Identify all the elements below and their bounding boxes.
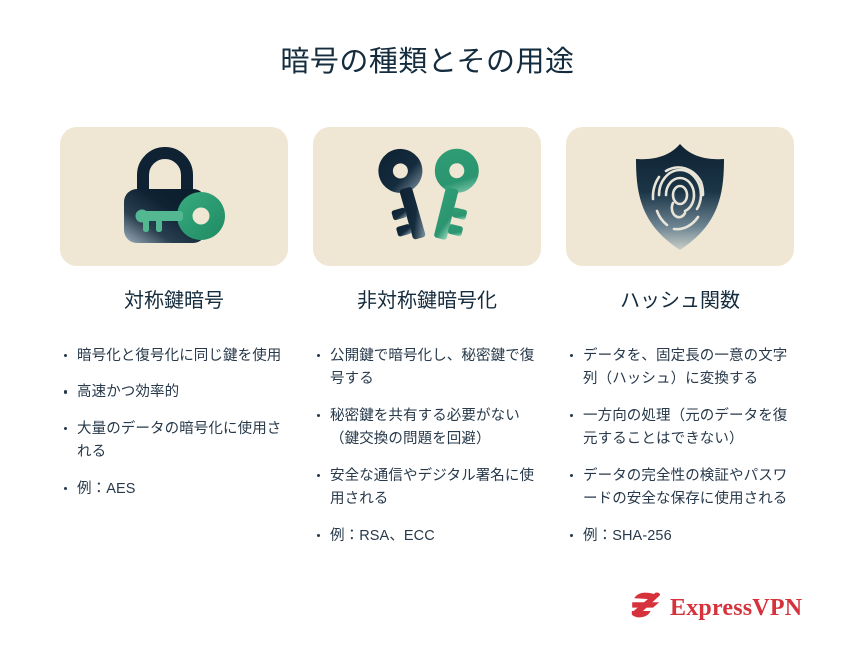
bullet-dot-icon bbox=[64, 354, 67, 357]
list-item-text: 例：SHA-256 bbox=[583, 528, 672, 544]
expressvpn-wordmark: ExpressVPN bbox=[670, 596, 802, 620]
list-item-text: データを、固定長の一意の文字列（ハッシュ）に変換する bbox=[583, 348, 787, 387]
bullet-dot-icon bbox=[64, 427, 67, 430]
bullet-dot-icon bbox=[570, 414, 573, 417]
two-keys-icon bbox=[367, 144, 487, 250]
list-item-text: 大量のデータの暗号化に使用される bbox=[77, 421, 281, 460]
list-item: 例：RSA、ECC bbox=[315, 525, 547, 548]
bullet-list-asymmetric: 公開鍵で暗号化し、秘密鍵で復号する 秘密鍵を共有する必要がない（鍵交換の問題を回… bbox=[315, 345, 547, 548]
bullet-dot-icon bbox=[317, 414, 320, 417]
bullet-dot-icon bbox=[570, 534, 573, 537]
list-item: データの完全性の検証やパスワードの安全な保存に使用される bbox=[568, 465, 800, 512]
list-item-text: 例：AES bbox=[77, 481, 136, 497]
bullet-dot-icon bbox=[317, 534, 320, 537]
shield-fingerprint-icon bbox=[630, 141, 730, 253]
heading-hash: ハッシュ関数 bbox=[566, 288, 794, 314]
list-item-text: 高速かつ効率的 bbox=[77, 384, 179, 400]
icon-card-hash bbox=[566, 127, 794, 266]
bullet-dot-icon bbox=[570, 354, 573, 357]
bullet-column-symmetric: 暗号化と復号化に同じ鍵を使用 高速かつ効率的 大量のデータの暗号化に使用される … bbox=[60, 345, 294, 548]
list-item: 例：AES bbox=[62, 478, 294, 501]
bullet-dot-icon bbox=[64, 390, 67, 393]
list-item: 公開鍵で暗号化し、秘密鍵で復号する bbox=[315, 345, 547, 392]
icon-card-symmetric bbox=[60, 127, 288, 266]
bullet-dot-icon bbox=[64, 487, 67, 490]
heading-symmetric: 対称鍵暗号 bbox=[60, 288, 288, 314]
list-item-text: 秘密鍵を共有する必要がない（鍵交換の問題を回避） bbox=[330, 408, 520, 447]
list-item: 暗号化と復号化に同じ鍵を使用 bbox=[62, 345, 294, 368]
bullet-dot-icon bbox=[317, 354, 320, 357]
bullet-list-hash: データを、固定長の一意の文字列（ハッシュ）に変換する 一方向の処理（元のデータを… bbox=[568, 345, 800, 548]
list-item: 一方向の処理（元のデータを復元することはできない） bbox=[568, 405, 800, 452]
heading-asymmetric: 非対称鍵暗号化 bbox=[313, 288, 541, 314]
list-item: データを、固定長の一意の文字列（ハッシュ）に変換する bbox=[568, 345, 800, 392]
list-item-text: 暗号化と復号化に同じ鍵を使用 bbox=[77, 348, 281, 364]
icon-card-row bbox=[60, 127, 794, 266]
list-item-text: 一方向の処理（元のデータを復元することはできない） bbox=[583, 408, 787, 447]
list-item-text: 例：RSA、ECC bbox=[330, 528, 435, 544]
list-item: 安全な通信やデジタル署名に使用される bbox=[315, 465, 547, 512]
list-item: 高速かつ効率的 bbox=[62, 381, 294, 404]
list-item: 例：SHA-256 bbox=[568, 525, 800, 548]
expressvpn-logo: ExpressVPN bbox=[631, 592, 802, 623]
bullet-dot-icon bbox=[317, 474, 320, 477]
bullet-dot-icon bbox=[570, 474, 573, 477]
icon-card-asymmetric bbox=[313, 127, 541, 266]
bullet-column-asymmetric: 公開鍵で暗号化し、秘密鍵で復号する 秘密鍵を共有する必要がない（鍵交換の問題を回… bbox=[315, 345, 547, 548]
list-item: 秘密鍵を共有する必要がない（鍵交換の問題を回避） bbox=[315, 405, 547, 452]
bullet-list-symmetric: 暗号化と復号化に同じ鍵を使用 高速かつ効率的 大量のデータの暗号化に使用される … bbox=[62, 345, 294, 501]
bullet-column-row: 暗号化と復号化に同じ鍵を使用 高速かつ効率的 大量のデータの暗号化に使用される … bbox=[60, 345, 800, 548]
expressvpn-e-mark-icon bbox=[631, 592, 661, 623]
list-item-text: 安全な通信やデジタル署名に使用される bbox=[330, 468, 534, 507]
list-item-text: データの完全性の検証やパスワードの安全な保存に使用される bbox=[583, 468, 787, 507]
list-item-text: 公開鍵で暗号化し、秘密鍵で復号する bbox=[330, 348, 534, 387]
page-title: 暗号の種類とその用途 bbox=[0, 44, 855, 80]
padlock-with-key-icon bbox=[113, 145, 235, 249]
card-heading-row: 対称鍵暗号 非対称鍵暗号化 ハッシュ関数 bbox=[60, 288, 794, 314]
list-item: 大量のデータの暗号化に使用される bbox=[62, 418, 294, 465]
infographic-page: 暗号の種類とその用途 bbox=[0, 0, 855, 657]
bullet-column-hash: データを、固定長の一意の文字列（ハッシュ）に変換する 一方向の処理（元のデータを… bbox=[568, 345, 800, 548]
